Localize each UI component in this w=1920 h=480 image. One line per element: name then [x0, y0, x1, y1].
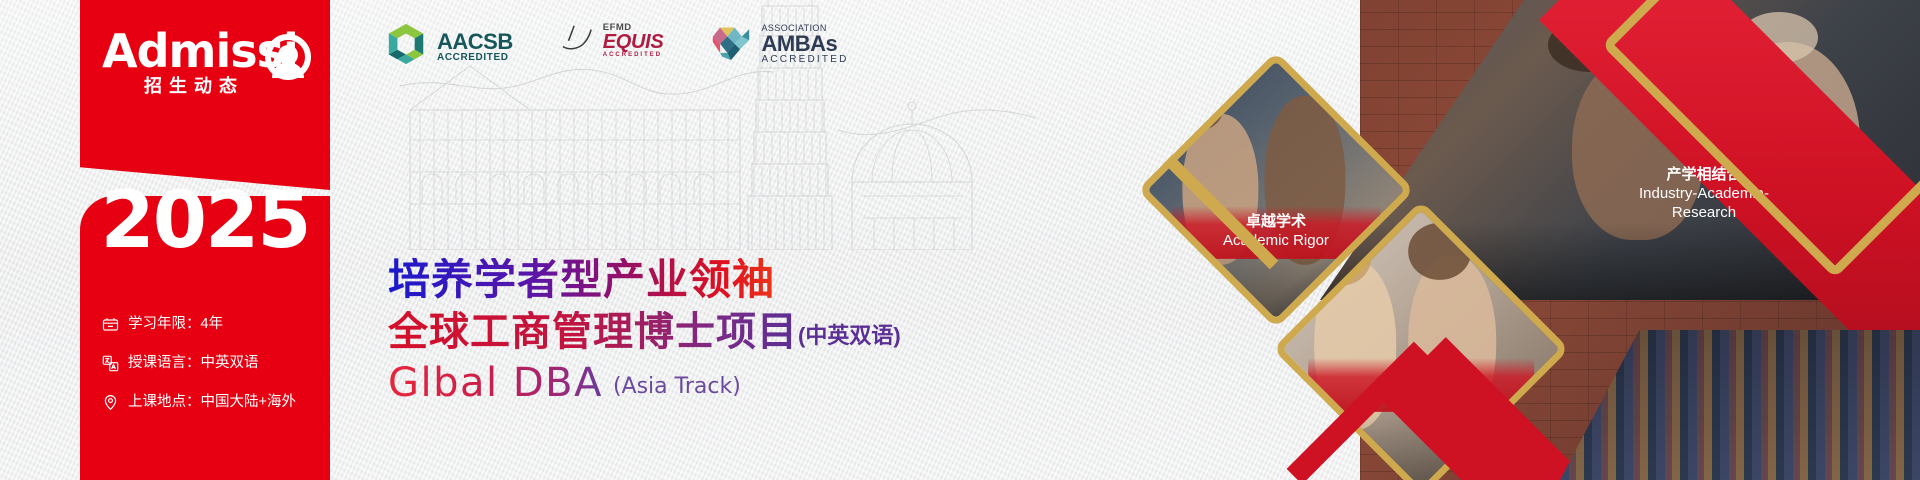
program-name-chinese-sub: (中英双语) [798, 318, 901, 353]
admission-banner: Admissi 招生动态 2025 学习年限：4年 [0, 0, 1920, 480]
fact-label: 授课语言：中英双语 [128, 356, 259, 371]
accreditation-logos: AACSB ACCREDITED EFMD EQUIS ACCREDITED [385, 22, 849, 71]
aacsb-name: AACSB [437, 31, 513, 53]
person-circle-icon [265, 34, 311, 80]
list-item: 学习年限：4年 [102, 316, 330, 333]
equis-accreditation: EFMD EQUIS ACCREDITED [559, 22, 664, 59]
calendar-icon [102, 316, 119, 333]
amba-diamond-icon [709, 22, 753, 67]
program-facts-list: 学习年限：4年 授课语言：中英双语 [102, 316, 330, 433]
fact-label: 上课地点：中国大陆+海外 [128, 395, 296, 410]
highlight-cn: 卓越学术 [1177, 213, 1375, 232]
admission-logo: Admissi 招生动态 [102, 26, 338, 116]
aacsb-logo-icon [385, 22, 429, 71]
efmd-swoosh-icon [559, 22, 595, 59]
aacsb-accreditation: AACSB ACCREDITED [385, 22, 513, 71]
admission-chinese-label: 招生动态 [144, 72, 244, 98]
tagline-chinese: 培养学者型产业领袖 [388, 258, 901, 302]
language-icon [102, 355, 119, 372]
program-track-english: (Asia Track) [603, 374, 741, 403]
year-label: 2025 [80, 182, 330, 260]
equis-name: EQUIS [603, 32, 664, 52]
program-name-chinese: 全球工商管理博士项目 [388, 311, 798, 353]
headline-block: 培养学者型产业领袖 全球工商管理博士项目 (中英双语) Glbal DBA (A… [388, 258, 901, 403]
location-pin-icon [102, 394, 119, 411]
program-name-english: Glbal DBA [388, 363, 603, 403]
fact-label: 学习年限：4年 [128, 317, 223, 332]
photo-collage: 产学相结合 Industry-Academia- Research 卓越学术 A… [1120, 0, 1920, 480]
list-item: 上课地点：中国大陆+海外 [102, 394, 330, 411]
amba-name: AMBAs [761, 33, 848, 55]
list-item: 授课语言：中英双语 [102, 355, 330, 372]
equis-sub: ACCREDITED [603, 52, 664, 58]
left-red-panel: Admissi 招生动态 2025 学习年限：4年 [80, 0, 330, 480]
amba-sub: ACCREDITED [761, 55, 848, 65]
highlight-en: Academic Rigor [1177, 232, 1375, 251]
amba-accreditation: ASSOCIATION AMBAs ACCREDITED [709, 22, 848, 67]
aacsb-sub: ACCREDITED [437, 53, 513, 63]
highlight-label-academic-rigor: 卓越学术 Academic Rigor [1171, 206, 1381, 260]
